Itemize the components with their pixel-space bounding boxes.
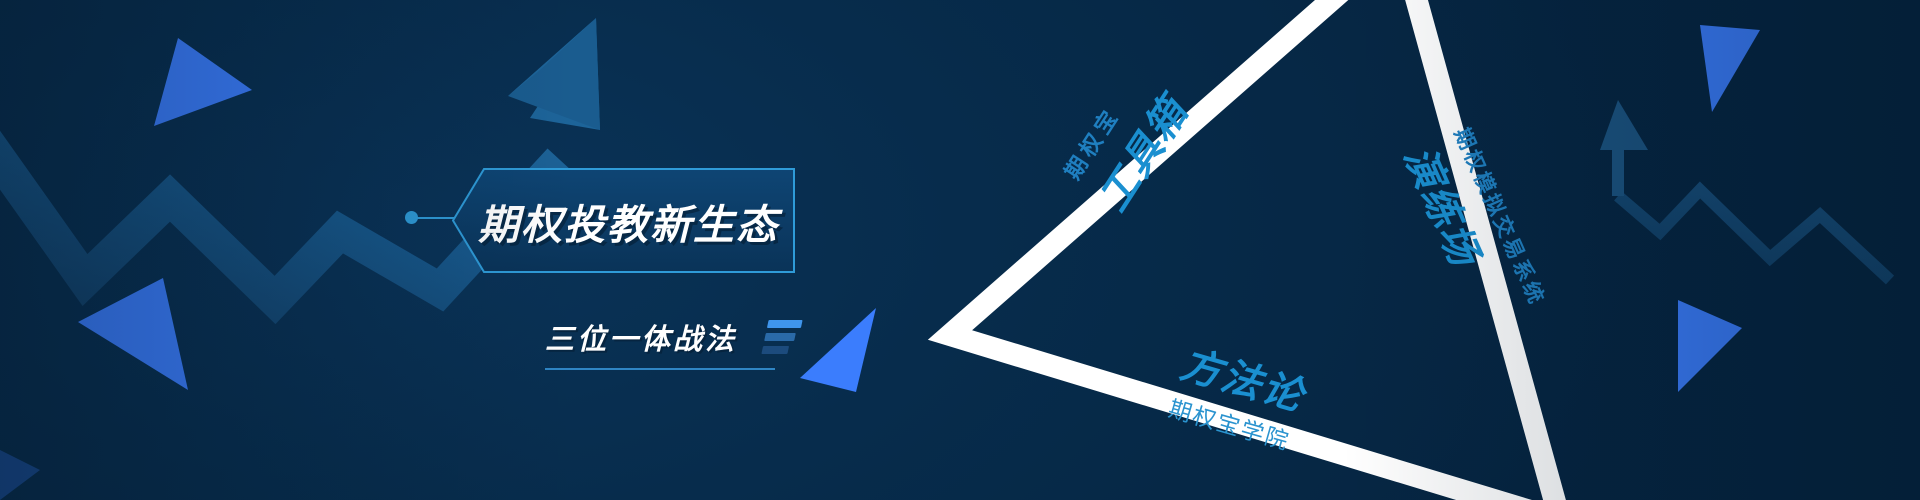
promo-banner: 期权宝 工具箱 期权模拟交易系统 演练场 方法论 期权宝学院 期权投教新生态 三… [0, 0, 1920, 500]
edge-vignette [0, 0, 1920, 500]
